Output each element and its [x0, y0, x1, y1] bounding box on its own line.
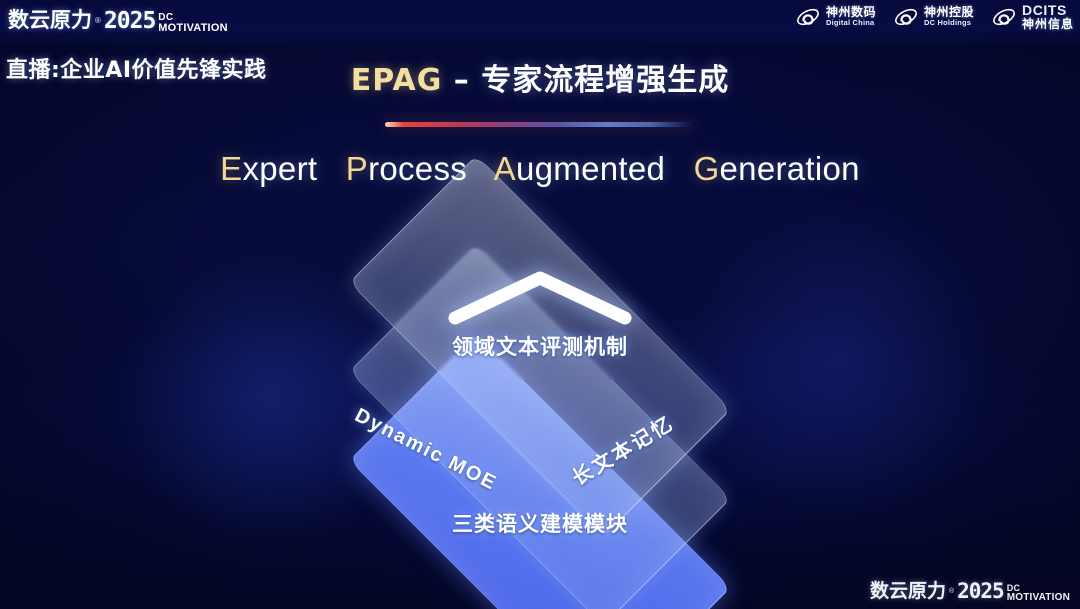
logo-en-name: DC Holdings [924, 19, 974, 27]
swirl-icon [991, 4, 1017, 30]
swirl-icon [893, 4, 919, 30]
page-subtitle: Expert Process Augmented Generation [0, 150, 1080, 188]
layered-architecture-diagram: 领域文本评测机制 Dynamic MOE 长文本记忆 三类语义建模模块 [283, 228, 797, 568]
title-chinese: 专家流程增强生成 [481, 63, 729, 98]
subtitle-word-augmented: Augmented [494, 150, 666, 187]
logo-dc-holdings: 神州控股 DC Holdings [893, 4, 974, 30]
brand-name-cn: 数云原力 [870, 576, 946, 603]
registered-mark: ® [949, 588, 954, 595]
subtitle-space-1 [327, 150, 336, 187]
brand-dc-motivation: DC MOTIVATION [158, 13, 227, 34]
brand-name-cn: 数云原力 [8, 4, 92, 34]
logo-text-dc-holdings: 神州控股 DC Holdings [924, 6, 974, 26]
title-separator: – [442, 63, 481, 98]
swirl-icon [795, 4, 821, 30]
live-stream-title: 直播:企业AI价值先锋实践 [6, 52, 267, 84]
registered-mark: ® [95, 16, 101, 25]
subtitle-word-generation: Generation [694, 150, 860, 187]
logo-text-dcits: 神州信息 DCITS [1022, 3, 1074, 30]
brand-logo-topleft: 数云原力 ® 2025 DC MOTIVATION [8, 4, 228, 34]
chevron-up-icon [445, 266, 635, 328]
brand-dc-motivation: DC MOTIVATION [1007, 584, 1070, 603]
logo-en-name: Digital China [826, 19, 876, 27]
slide-stage: 数云原力 ® 2025 DC MOTIVATION 直播:企业AI价值先锋实践 … [0, 0, 1080, 609]
logo-cn-name: 神州信息 [1022, 18, 1074, 31]
title-acronym: EPAG [351, 63, 443, 98]
subtitle-word-expert: Expert [220, 150, 317, 187]
diagram-label-bottom: 三类语义建模模块 [283, 508, 797, 538]
logo-dcits: 神州信息 DCITS [991, 3, 1074, 30]
subtitle-space-3 [675, 150, 684, 187]
subtitle-word-process: Process [346, 150, 467, 187]
brand-logo-watermark: 数云原力 ® 2025 DC MOTIVATION [870, 576, 1070, 603]
logo-text-digital-china: 神州数码 Digital China [826, 6, 876, 26]
logo-digital-china: 神州数码 Digital China [795, 4, 876, 30]
title-divider-bar [385, 122, 695, 127]
brand-year: 2025 [104, 8, 155, 34]
brand-motivation-label: MOTIVATION [158, 23, 227, 34]
subtitle-space-2 [477, 150, 486, 187]
brand-motivation-label: MOTIVATION [1007, 593, 1070, 603]
logo-en-name: DCITS [1022, 3, 1074, 18]
diagram-label-top: 领域文本评测机制 [283, 331, 797, 361]
brand-year: 2025 [957, 579, 1004, 603]
partner-logo-group: 神州数码 Digital China 神州控股 DC Holdings 神州信息… [795, 3, 1074, 30]
